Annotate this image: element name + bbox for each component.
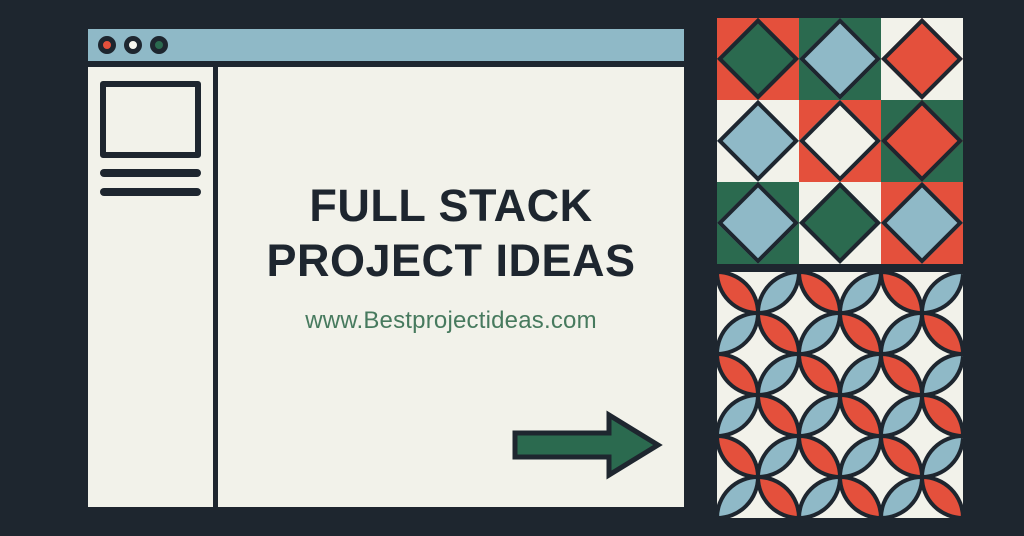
website-url: www.Bestprojectideas.com — [305, 307, 597, 335]
diamond-shape — [799, 18, 881, 100]
diamond-tile — [799, 182, 881, 264]
diamond-tile — [717, 182, 799, 264]
diamond-pattern-panel — [717, 18, 963, 264]
quatrefoil-pattern-grid — [717, 272, 963, 518]
page-title: FULL STACK PROJECT IDEAS — [251, 179, 651, 289]
diamond-tile — [799, 18, 881, 100]
diamond-shape — [717, 100, 799, 182]
poster-canvas: FULL STACK PROJECT IDEAS www.Bestproject… — [0, 0, 1024, 536]
main-content-area: FULL STACK PROJECT IDEAS www.Bestproject… — [218, 67, 684, 507]
diamond-shape — [799, 100, 881, 182]
close-button-dot[interactable] — [98, 36, 116, 54]
diamond-tile — [717, 100, 799, 182]
quatrefoil-pattern-panel — [717, 272, 963, 518]
maximize-button-dot[interactable] — [150, 36, 168, 54]
diamond-shape — [881, 100, 963, 182]
sidebar-text-bar — [100, 188, 201, 196]
minimize-button-dot[interactable] — [124, 36, 142, 54]
sidebar — [88, 67, 218, 507]
diamond-shape — [881, 18, 963, 100]
diamond-shape — [717, 182, 799, 264]
browser-body: FULL STACK PROJECT IDEAS www.Bestproject… — [88, 67, 684, 507]
diamond-tile — [881, 182, 963, 264]
diamond-shape — [881, 182, 963, 264]
diamond-tile — [881, 18, 963, 100]
arrow-right-icon[interactable] — [509, 409, 664, 481]
browser-title-bar — [88, 29, 684, 67]
diamond-shape — [717, 18, 799, 100]
image-placeholder-icon — [100, 81, 201, 158]
diamond-tile — [881, 100, 963, 182]
diamond-shape — [799, 182, 881, 264]
sidebar-text-bar — [100, 169, 201, 177]
diamond-tile — [799, 100, 881, 182]
diamond-tile — [717, 18, 799, 100]
diamond-tile-grid — [717, 18, 963, 264]
browser-window-mockup: FULL STACK PROJECT IDEAS www.Bestproject… — [82, 23, 690, 513]
